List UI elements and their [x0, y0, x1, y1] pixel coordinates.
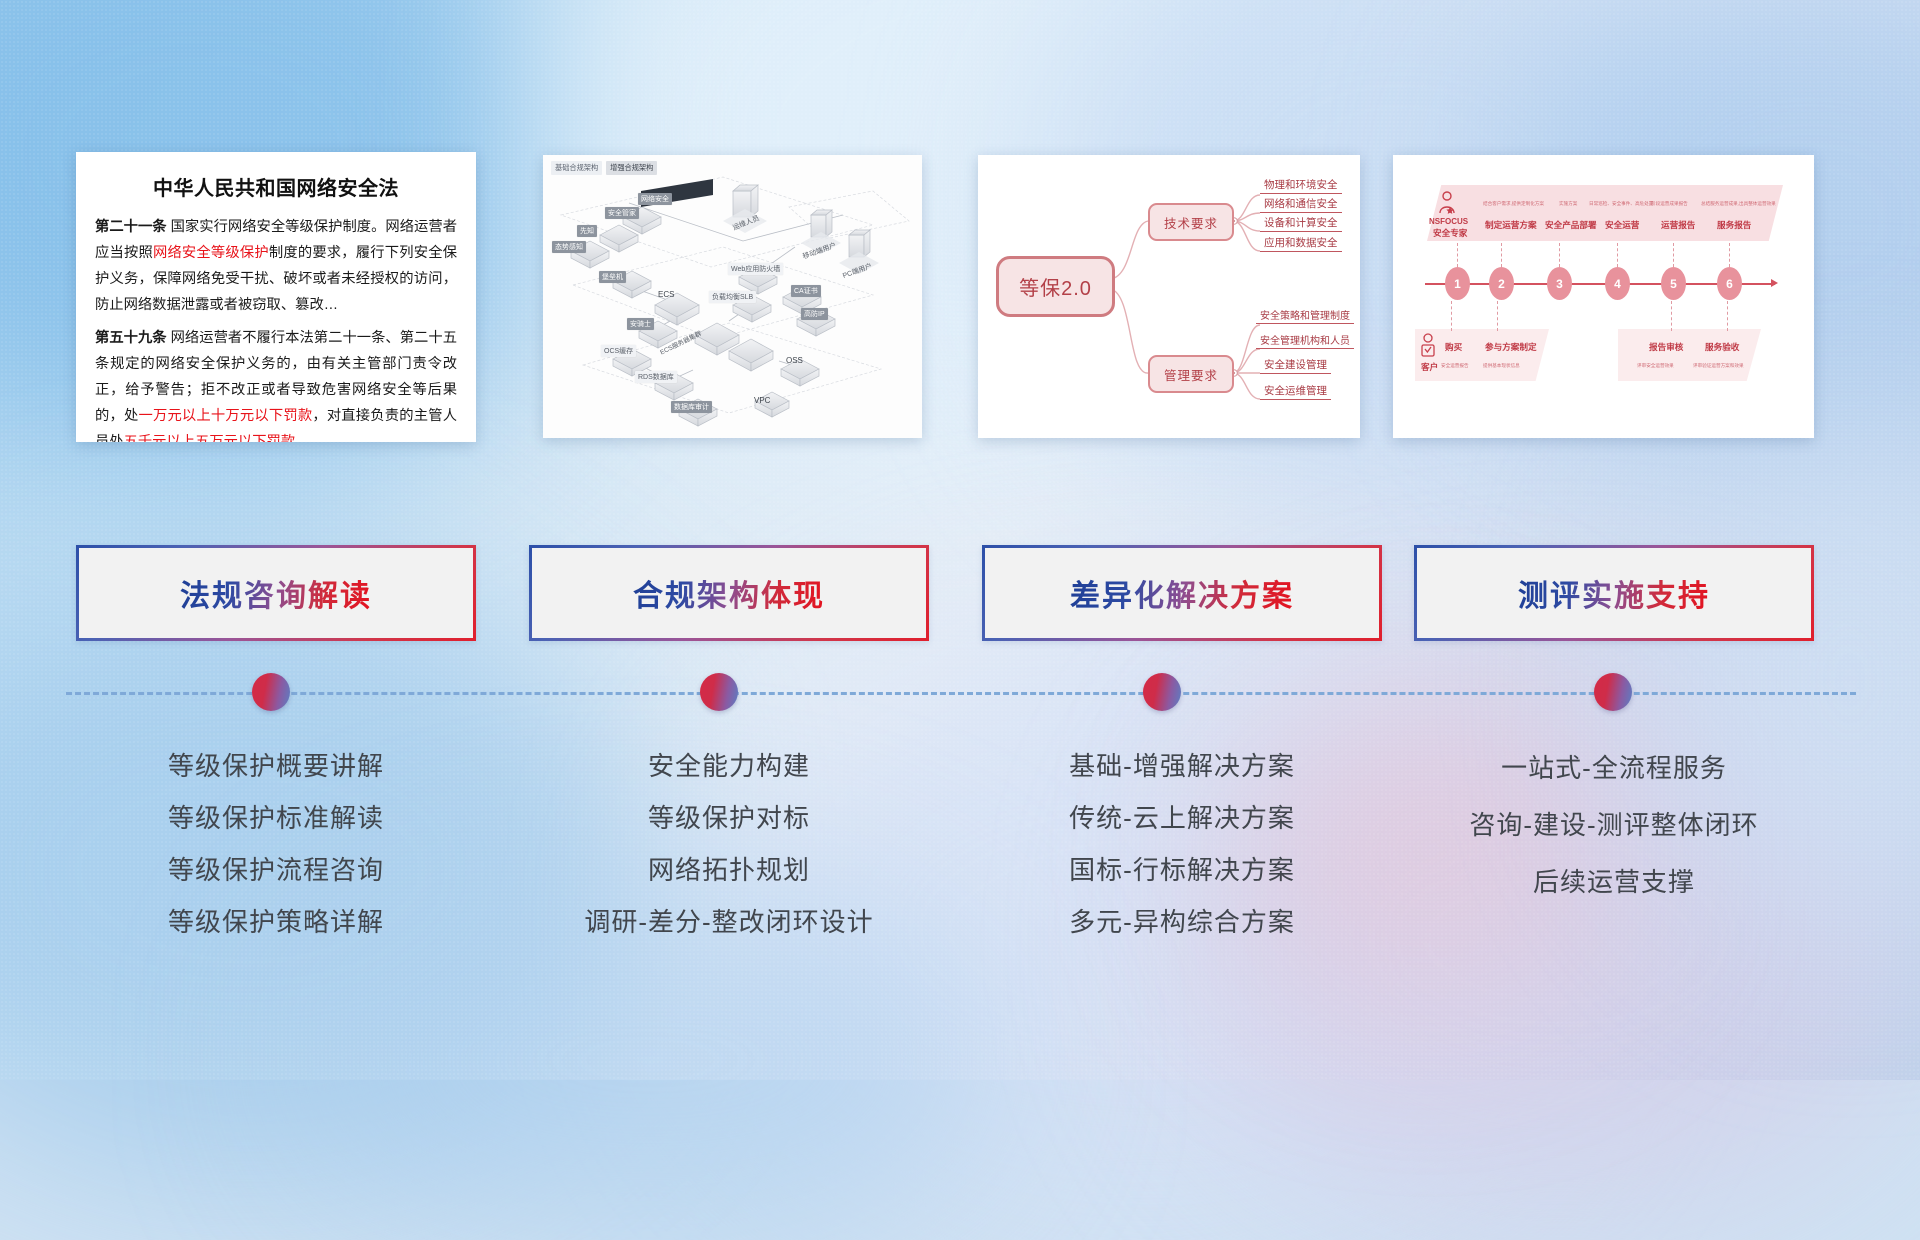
ops-customer-label: 客户: [1421, 361, 1438, 373]
ops-step-title: 安全运营: [1605, 219, 1639, 231]
mindmap-leaf: 应用和数据安全: [1260, 235, 1342, 252]
mindmap-leaf: 设备和计算安全: [1260, 215, 1342, 232]
law-text-run-highlight: 五千元以上五万元以下罚款。: [124, 434, 310, 442]
ops-step-dot: 6: [1717, 267, 1742, 300]
ops-step-title: 服务报告: [1717, 219, 1751, 231]
ops-customer-step-title: 参与方案制定: [1485, 341, 1537, 353]
mindmap-card: 等保2.0 技术要求 管理要求 物理和环境安全 网络和通信安全 设备和计算安全 …: [978, 155, 1360, 438]
timeline-node-2[interactable]: [700, 673, 738, 711]
ops-customer-step-title: 报告审核: [1649, 341, 1683, 353]
mindmap-branch-technical: 技术要求: [1148, 203, 1234, 241]
detail-item: 网络拓扑规划: [529, 844, 929, 896]
detail-item: 基础-增强解决方案: [982, 740, 1382, 792]
ops-step-sub: 总结服务运营成果,出具整体运营效果: [1701, 201, 1776, 207]
ops-step-sub: 日常巡检、安全事件、高危处置: [1589, 201, 1653, 207]
mindmap-leaf: 安全运维管理: [1260, 383, 1331, 400]
detail-item: 咨询-建设-测评整体闭环: [1414, 797, 1814, 854]
feature-detail-columns: 等级保护概要讲解 等级保护标准解读 等级保护流程咨询 等级保护策略详解 安全能力…: [0, 740, 1920, 980]
ops-expert-label: 安全专家: [1433, 227, 1467, 239]
feature-title-box-1[interactable]: 法规咨询解读: [76, 545, 476, 641]
feature-title-row: 法规咨询解读 合规架构体现 差异化解决方案 测评实施支持: [0, 545, 1920, 641]
ops-customer-band-right: [1618, 329, 1761, 381]
law-document-card: 中华人民共和国网络安全法 第二十一条 国家实行网络安全等级保护制度。网络运营者应…: [76, 152, 476, 442]
ops-expert-band: [1427, 185, 1783, 241]
feature-detail-column-3: 基础-增强解决方案 传统-云上解决方案 国标-行标解决方案 多元-异构综合方案: [982, 740, 1382, 948]
ops-tick: [1501, 243, 1502, 267]
ops-tick: [1671, 301, 1672, 331]
detail-item: 多元-异构综合方案: [982, 896, 1382, 948]
ops-tick: [1673, 243, 1674, 267]
law-article-number: 第二十一条: [95, 219, 167, 235]
timeline-node-4[interactable]: [1594, 673, 1632, 711]
arch-node-label: ECS: [655, 289, 677, 300]
customer-icon: [1419, 333, 1437, 359]
arch-node-label: CA证书: [791, 285, 821, 297]
ops-step-title: 运营报告: [1661, 219, 1695, 231]
feature-title-border: 法规咨询解读: [76, 545, 476, 641]
feature-title-label: 差异化解决方案: [1070, 571, 1294, 615]
feature-title-box-3[interactable]: 差异化解决方案: [982, 545, 1382, 641]
ops-customer-step-sub: 提供基本现状信息: [1483, 363, 1520, 369]
timeline-node-1[interactable]: [252, 673, 290, 711]
law-text-run-highlight: 一万元以上十万元以下罚款: [138, 408, 312, 424]
feature-title-border: 合规架构体现: [529, 545, 929, 641]
cloud-architecture-card: 基础合规架构 增强合规架构: [543, 155, 922, 438]
mindmap-leaf: 安全策略和管理制度: [1256, 307, 1354, 324]
arch-node-label: 数据库审计: [671, 401, 712, 413]
arch-node-label: OCS缓存: [601, 345, 636, 357]
ops-tick: [1497, 301, 1498, 331]
ops-step-dot: 4: [1605, 267, 1630, 300]
detail-item: 等级保护标准解读: [76, 792, 476, 844]
ops-tick: [1617, 243, 1618, 267]
arch-node-label: RDS数据库: [635, 371, 677, 383]
detail-item: 等级保护对标: [529, 792, 929, 844]
mindmap-leaf: 网络和通信安全: [1260, 196, 1342, 213]
arch-node-label: 态势感知: [552, 241, 586, 253]
ops-brand-label: NSFOCUS: [1429, 217, 1468, 226]
timeline-node-3[interactable]: [1143, 673, 1181, 711]
detail-item: 等级保护流程咨询: [76, 844, 476, 896]
ops-tick: [1457, 243, 1458, 267]
ops-customer-step-title: 购买: [1445, 341, 1462, 353]
ops-tick: [1559, 243, 1560, 267]
feature-detail-column-2: 安全能力构建 等级保护对标 网络拓扑规划 调研-差分-整改闭环设计: [529, 740, 929, 948]
arch-node-label: 先知: [577, 225, 597, 237]
feature-title-label: 法规咨询解读: [180, 571, 372, 615]
ops-step-sub: 实施方案: [1559, 201, 1577, 207]
ops-step-dot: 2: [1489, 267, 1514, 300]
arch-node-label: VPC: [751, 395, 773, 406]
detail-item: 等级保护概要讲解: [76, 740, 476, 792]
arch-node-label: 安骑士: [627, 318, 654, 330]
ops-step-dot: 1: [1445, 267, 1470, 300]
detail-item: 等级保护策略详解: [76, 896, 476, 948]
feature-title-border: 差异化解决方案: [982, 545, 1382, 641]
timeline-dashed-line: [66, 692, 1856, 695]
detail-item: 安全能力构建: [529, 740, 929, 792]
mindmap-leaf: 物理和环境安全: [1260, 177, 1342, 194]
arch-node-label: Web应用防火墙: [728, 263, 783, 275]
ops-tick: [1451, 301, 1452, 331]
ops-step-sub: 阶段运营成果报告: [1651, 201, 1688, 207]
ops-tick: [1727, 301, 1728, 331]
feature-title-box-4[interactable]: 测评实施支持: [1414, 545, 1814, 641]
arch-node-label: 负载均衡SLB: [709, 291, 756, 303]
law-text-run-highlight: 网络安全等级保护: [153, 245, 269, 261]
ops-customer-step-title: 服务验收: [1705, 341, 1739, 353]
arch-node-label: 高防IP: [801, 308, 828, 320]
arch-node-banner: 网络安全: [638, 193, 672, 205]
feature-title-label: 测评实施支持: [1518, 571, 1710, 615]
ops-step-dot: 5: [1661, 267, 1686, 300]
feature-detail-column-4: 一站式-全流程服务 咨询-建设-测评整体闭环 后续运营支撑: [1414, 740, 1814, 911]
operations-timeline-card: NSFOCUS 安全专家 结合客户需求,提供定制化方案 制定运营方案 实施方案 …: [1393, 155, 1814, 438]
ops-customer-step-sub: 评审验证运营方案和效果: [1693, 363, 1744, 369]
ops-step-dot: 3: [1547, 267, 1572, 300]
mindmap-leaf: 安全管理机构和人员: [1256, 332, 1354, 349]
feature-title-border: 测评实施支持: [1414, 545, 1814, 641]
mindmap-branch-management: 管理要求: [1148, 355, 1234, 393]
feature-title-box-2[interactable]: 合规架构体现: [529, 545, 929, 641]
mindmap-root-node: 等保2.0: [996, 256, 1115, 317]
ops-step-sub: 结合客户需求,提供定制化方案: [1483, 201, 1544, 207]
feature-title-label: 合规架构体现: [633, 571, 825, 615]
law-article-number: 第五十九条: [95, 330, 167, 346]
mindmap-leaf: 安全建设管理: [1260, 357, 1331, 374]
ops-axis-arrow-icon: [1771, 279, 1778, 287]
ops-step-title: 制定运营方案: [1485, 219, 1537, 231]
ops-customer-step-sub: 评审安全运营效果: [1637, 363, 1674, 369]
detail-item: 后续运营支撑: [1414, 854, 1814, 911]
security-expert-icon: [1437, 191, 1457, 215]
detail-item: 一站式-全流程服务: [1414, 740, 1814, 797]
detail-item: 调研-差分-整改闭环设计: [529, 896, 929, 948]
feature-detail-column-1: 等级保护概要讲解 等级保护标准解读 等级保护流程咨询 等级保护策略详解: [76, 740, 476, 948]
ops-customer-step-sub: 安全运营报告: [1441, 363, 1469, 369]
detail-item: 国标-行标解决方案: [982, 844, 1382, 896]
law-paragraph: 第五十九条 网络运营者不履行本法第二十一条、第二十五条规定的网络安全保护义务的，…: [95, 325, 457, 442]
detail-item: 传统-云上解决方案: [982, 792, 1382, 844]
ops-tick: [1729, 243, 1730, 267]
ops-step-title: 安全产品部署: [1545, 219, 1597, 231]
law-paragraph: 第二十一条 国家实行网络安全等级保护制度。网络运营者应当按照网络安全等级保护制度…: [95, 214, 457, 318]
timeline-connector: [0, 673, 1920, 713]
arch-node-label: OSS: [783, 355, 806, 366]
arch-node-label: 安全管家: [605, 207, 639, 219]
illustration-card-row: 中华人民共和国网络安全法 第二十一条 国家实行网络安全等级保护制度。网络运营者应…: [0, 152, 1920, 442]
arch-node-label: 堡垒机: [599, 271, 626, 283]
law-title: 中华人民共和国网络安全法: [95, 172, 457, 201]
